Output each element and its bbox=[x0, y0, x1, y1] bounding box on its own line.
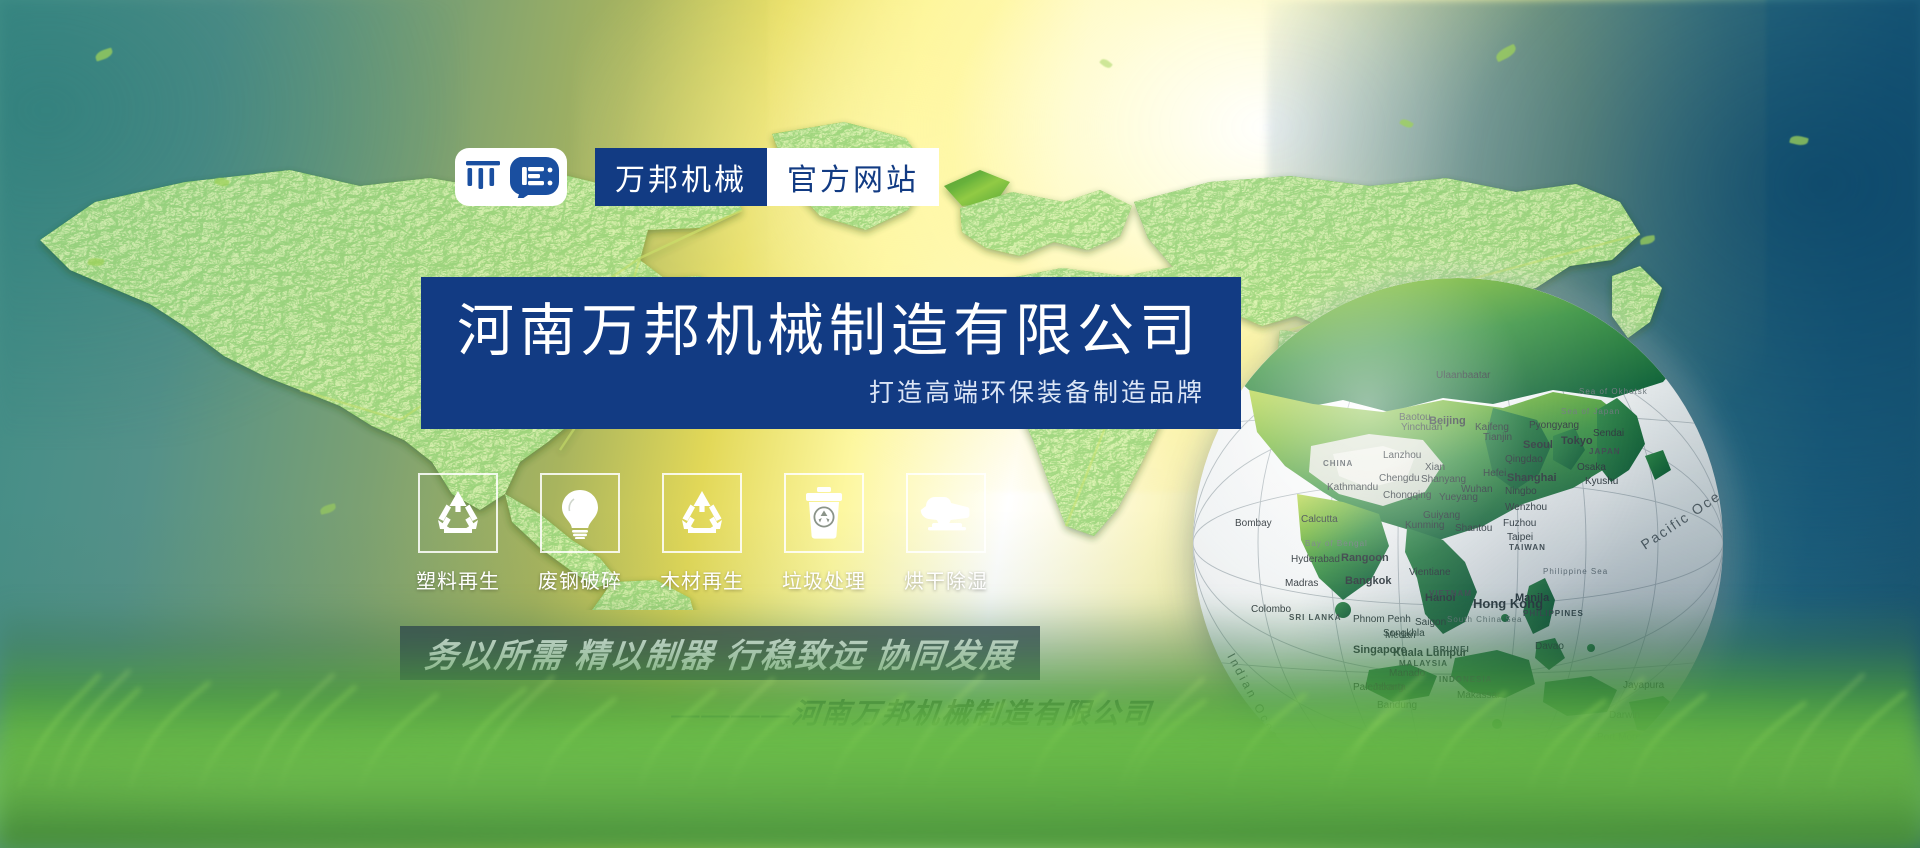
svg-text:Yinchuan: Yinchuan bbox=[1401, 422, 1442, 433]
svg-text:Rangoon: Rangoon bbox=[1341, 552, 1389, 564]
svg-text:Chongqing: Chongqing bbox=[1383, 490, 1431, 501]
svg-text:Bangkok: Bangkok bbox=[1345, 575, 1392, 587]
service-item-waste-treatment[interactable]: 垃圾处理 bbox=[784, 473, 864, 594]
svg-text:Ulaanbaatar: Ulaanbaatar bbox=[1436, 370, 1491, 381]
svg-text:Ningbo: Ningbo bbox=[1505, 486, 1537, 497]
service-label: 烘干除湿 bbox=[904, 565, 988, 594]
svg-text:JAPAN: JAPAN bbox=[1589, 447, 1621, 456]
svg-text:Sendai: Sendai bbox=[1593, 428, 1624, 439]
site-logo-row[interactable]: 万邦机械 官方网站 bbox=[455, 148, 939, 206]
svg-text:Wenzhou: Wenzhou bbox=[1505, 502, 1547, 513]
service-label: 废钢破碎 bbox=[538, 565, 622, 594]
service-label: 垃圾处理 bbox=[782, 565, 866, 594]
svg-text:Kunming: Kunming bbox=[1405, 520, 1444, 531]
service-icon-box[interactable] bbox=[906, 473, 986, 553]
page-subtitle: 打造高端环保装备制造品牌 bbox=[457, 373, 1205, 409]
svg-text:CHINA: CHINA bbox=[1323, 459, 1353, 468]
svg-text:Taipei: Taipei bbox=[1507, 532, 1533, 543]
trash-bin-icon bbox=[804, 486, 844, 540]
svg-text:Qingdao: Qingdao bbox=[1505, 454, 1543, 465]
grass-foreground bbox=[0, 598, 1920, 848]
service-icon-row: 塑料再生 废钢破碎 bbox=[418, 473, 986, 594]
wanbang-wb-logo-icon[interactable] bbox=[455, 148, 567, 206]
service-item-drying-dehumidify[interactable]: 烘干除湿 bbox=[906, 473, 986, 594]
svg-text:Kyushu: Kyushu bbox=[1585, 476, 1618, 487]
svg-text:Chengdu: Chengdu bbox=[1379, 473, 1420, 484]
svg-text:Calcutta: Calcutta bbox=[1301, 514, 1338, 525]
svg-text:Sea of Okhotsk: Sea of Okhotsk bbox=[1579, 387, 1648, 396]
svg-text:Bombay: Bombay bbox=[1235, 518, 1272, 529]
svg-text:Sea of Japan: Sea of Japan bbox=[1561, 407, 1620, 416]
service-icon-box[interactable] bbox=[662, 473, 742, 553]
hero-title-banner: 河南万邦机械制造有限公司 打造高端环保装备制造品牌 bbox=[421, 277, 1241, 429]
service-icon-box[interactable] bbox=[540, 473, 620, 553]
svg-text:Philippine Sea: Philippine Sea bbox=[1543, 567, 1608, 576]
svg-text:VIETNAM: VIETNAM bbox=[1429, 589, 1472, 598]
svg-text:Kathmandu: Kathmandu bbox=[1327, 482, 1378, 493]
svg-text:Wuhan: Wuhan bbox=[1461, 484, 1493, 495]
tab-official-site[interactable]: 官方网站 bbox=[767, 148, 939, 206]
page-title: 河南万邦机械制造有限公司 bbox=[457, 301, 1205, 363]
svg-text:Hyderabad: Hyderabad bbox=[1291, 554, 1340, 565]
svg-text:Shanghai: Shanghai bbox=[1507, 472, 1557, 484]
svg-text:Pyongyang: Pyongyang bbox=[1529, 420, 1579, 431]
svg-text:Vientiane: Vientiane bbox=[1409, 567, 1451, 578]
dryer-icon bbox=[918, 493, 974, 533]
svg-text:Xian: Xian bbox=[1425, 462, 1445, 473]
service-item-steel-crushing[interactable]: 废钢破碎 bbox=[540, 473, 620, 594]
svg-text:Lanzhou: Lanzhou bbox=[1383, 450, 1421, 461]
service-label: 木材再生 bbox=[660, 565, 744, 594]
svg-text:Hefei: Hefei bbox=[1483, 468, 1506, 479]
service-icon-box[interactable] bbox=[784, 473, 864, 553]
service-icon-box[interactable] bbox=[418, 473, 498, 553]
recycle-icon bbox=[432, 487, 484, 539]
svg-text:Osaka: Osaka bbox=[1577, 462, 1606, 473]
recycle-icon bbox=[676, 487, 728, 539]
svg-text:Tokyo: Tokyo bbox=[1561, 435, 1593, 447]
svg-text:Guiyang: Guiyang bbox=[1423, 510, 1460, 521]
svg-text:Seoul: Seoul bbox=[1523, 439, 1553, 451]
hero-banner: Beijing Shanghai Hong Kong Tokyo Seoul M… bbox=[0, 0, 1920, 848]
tab-company-name[interactable]: 万邦机械 bbox=[595, 148, 767, 206]
svg-text:Fuzhou: Fuzhou bbox=[1503, 518, 1536, 529]
svg-text:TAIWAN: TAIWAN bbox=[1509, 543, 1546, 552]
svg-text:Shanyang: Shanyang bbox=[1421, 474, 1466, 485]
svg-text:Madras: Madras bbox=[1285, 578, 1318, 589]
svg-text:Shantou: Shantou bbox=[1455, 523, 1492, 534]
svg-text:Bay of Bengal: Bay of Bengal bbox=[1305, 539, 1368, 548]
svg-text:Tianjin: Tianjin bbox=[1483, 432, 1512, 443]
svg-text:Kaifeng: Kaifeng bbox=[1475, 422, 1509, 433]
service-item-wood-recycling[interactable]: 木材再生 bbox=[662, 473, 742, 594]
lightbulb-icon bbox=[556, 487, 604, 539]
service-label: 塑料再生 bbox=[416, 565, 500, 594]
service-item-plastic-recycling[interactable]: 塑料再生 bbox=[418, 473, 498, 594]
